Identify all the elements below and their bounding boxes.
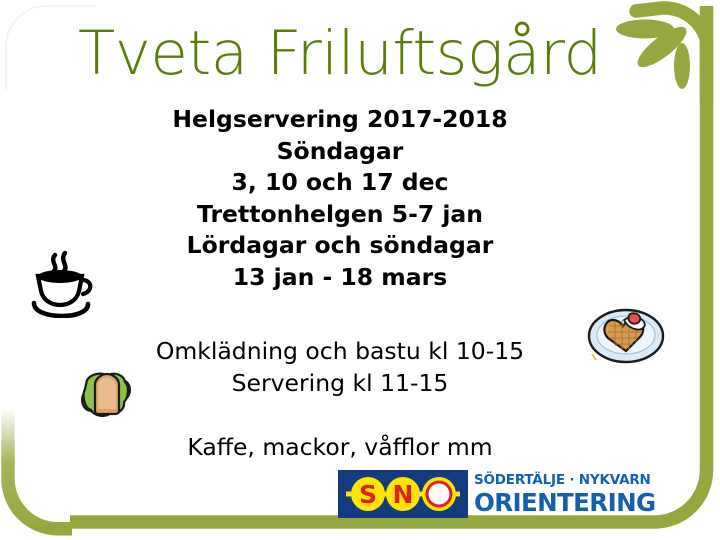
sno-control-markers-icon: S N (338, 470, 468, 518)
waffle-strawberry-icon (629, 313, 641, 323)
coffee-surface-icon (38, 270, 82, 283)
sno-letter-n: N (393, 480, 414, 509)
schedule-line: Helgservering 2017-2018 (60, 104, 620, 136)
leaf-vertical-icon (674, 43, 690, 89)
page-title: Tveta Friluftsgård (0, 18, 640, 90)
opening-hours-line: Servering kl 11-15 (60, 368, 620, 400)
poster-canvas: Tveta Friluftsgård Helgservering 2017-20… (0, 0, 720, 540)
schedule-line: Trettonhelgen 5-7 jan (60, 199, 620, 231)
coffee-cup-icon (22, 246, 106, 318)
sandwich-icon (78, 368, 134, 420)
opening-hours-block: Omklädning och bastu kl 10-15 Servering … (60, 336, 620, 399)
schedule-line: Lördagar och söndagar (60, 230, 620, 262)
leaf-stem-icon (636, 8, 707, 100)
waffle-accent-icon (592, 354, 596, 360)
schedule-line: 3, 10 och 17 dec (60, 167, 620, 199)
schedule-block: Helgservering 2017-2018 Söndagar 3, 10 o… (60, 104, 620, 293)
schedule-line: Söndagar (60, 136, 620, 168)
sno-letter-s: S (359, 480, 377, 509)
sno-logo[interactable]: S N SÖDERTÄLJE · NYKVARN ORIENTERING (338, 470, 662, 518)
opening-hours-line: Omklädning och bastu kl 10-15 (60, 336, 620, 368)
frame-left-fade-stroke (8, 408, 72, 529)
offer-text: Kaffe, mackor, våfflor mm (60, 432, 620, 464)
sandwich-bread-inner-icon (98, 378, 116, 410)
sno-wordmark: SÖDERTÄLJE · NYKVARN ORIENTERING (474, 471, 662, 517)
sno-wordmark-line2: ORIENTERING (474, 490, 662, 516)
schedule-line: 13 jan - 18 mars (60, 262, 620, 294)
sno-logo-mark: S N (338, 470, 468, 518)
leaf-diagonal-icon (632, 21, 692, 74)
waffle-plate-icon (586, 304, 666, 364)
